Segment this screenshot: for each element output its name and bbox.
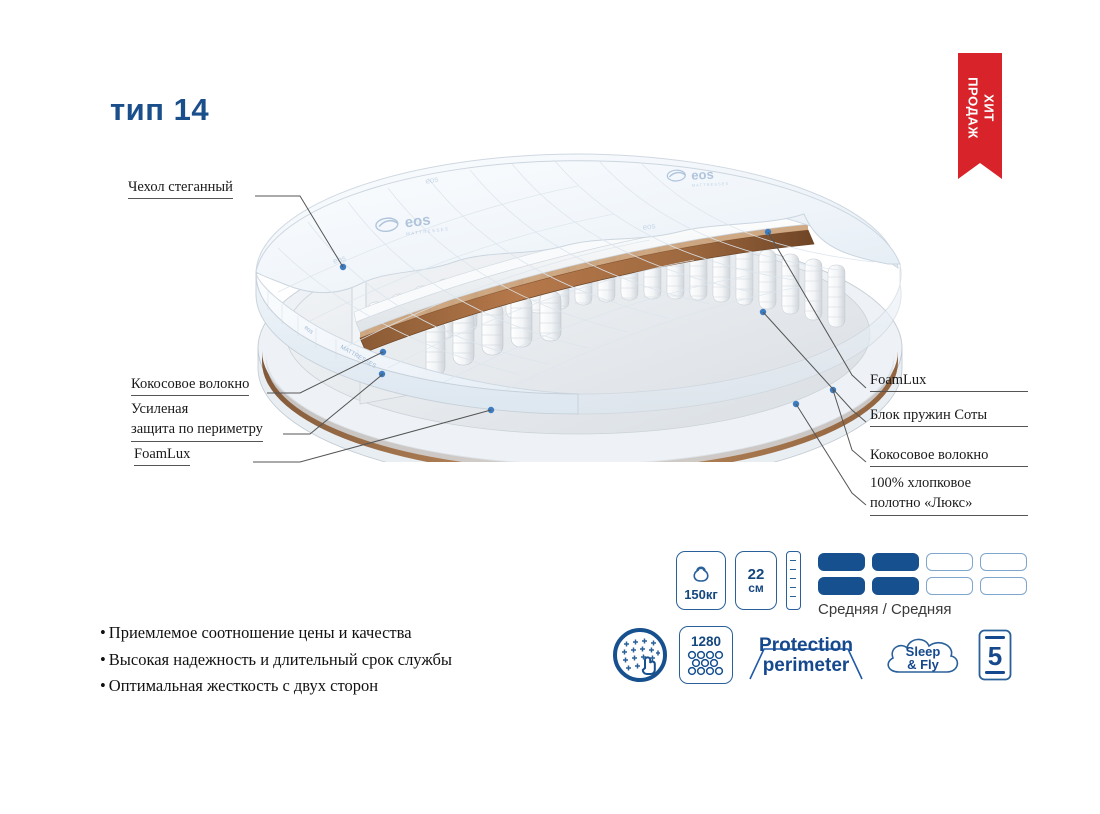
list-item: •Приемлемое соотношение цены и качества — [100, 620, 452, 647]
height-unit: см — [748, 582, 765, 594]
spec-icons-row-top: 150кг 22 см — [676, 551, 801, 610]
callout-coconut-left: Кокосовое волокно — [131, 375, 249, 396]
bullet-marker: • — [100, 620, 106, 647]
callout-foamlux-left: FoamLux — [134, 445, 190, 466]
callout-spring-block: Блок пружин Соты — [870, 406, 1028, 427]
callout-foamlux-right: FoamLux — [870, 371, 1028, 392]
callout-coconut-right-label: Кокосовое волокно — [870, 446, 1028, 467]
firmness-cell — [818, 553, 865, 571]
warranty-years-value: 5 — [988, 641, 1002, 671]
callout-foamlux-left-label: FoamLux — [134, 445, 190, 466]
firmness-row-side-b — [818, 577, 1027, 595]
bullet-text: Приемлемое соотношение цены и качества — [109, 623, 412, 642]
firmness-cell — [872, 553, 919, 571]
callout-perimeter-line1: Усиленая — [131, 400, 263, 420]
hit-sales-badge-text: ХИТ ПРОДАЖ — [964, 77, 997, 139]
firmness-cell — [926, 553, 973, 571]
firmness-indicator: Средняя / Средняя — [818, 553, 1027, 618]
callout-cover-label: Чехол стеганный — [128, 178, 233, 199]
list-item: •Высокая надежность и длительный срок сл… — [100, 647, 452, 674]
poster-canvas: тип 14 ХИТ ПРОДАЖ — [0, 0, 1100, 814]
callout-spring-block-label: Блок пружин Соты — [870, 406, 1028, 427]
max-weight-icon: 150кг — [676, 551, 726, 610]
callout-cotton-line1: 100% хлопковое — [870, 474, 1028, 494]
callout-foamlux-right-label: FoamLux — [870, 371, 1028, 392]
warranty-years-icon: 5 — [978, 629, 1012, 681]
protection-perimeter-logo: Protection perimeter — [744, 629, 868, 681]
protection-line-2: perimeter — [763, 655, 850, 676]
bullet-marker: • — [100, 647, 106, 674]
callout-cotton: 100% хлопковое полотно «Люкс» — [870, 474, 1028, 516]
sleepfly-line-2: & Fly — [907, 657, 940, 672]
bullet-text: Высокая надежность и длительный срок слу… — [109, 650, 452, 669]
spring-dots-icon — [686, 650, 726, 676]
bullet-text: Оптимальная жесткость с двух сторон — [109, 676, 378, 695]
callout-coconut-left-label: Кокосовое волокно — [131, 375, 249, 396]
svg-text:eos: eos — [691, 167, 714, 183]
callout-perimeter: Усиленая защита по периметру — [131, 400, 263, 442]
max-weight-value: 150кг — [684, 587, 718, 602]
spring-count-icon: 1280 — [679, 626, 733, 684]
hit-sales-badge: ХИТ ПРОДАЖ — [958, 53, 1002, 163]
callout-coconut-right: Кокосовое волокно — [870, 446, 1028, 467]
feature-bullet-list: •Приемлемое соотношение цены и качества … — [100, 620, 452, 700]
spring-count-value: 1280 — [691, 634, 721, 649]
sleep-and-fly-logo: Sleep & Fly — [879, 628, 967, 682]
firmness-label: Средняя / Средняя — [818, 601, 1027, 618]
protection-line-1: Protection — [759, 635, 853, 656]
firmness-cell — [980, 553, 1027, 571]
page-title: тип 14 — [110, 92, 209, 128]
badge-line-1: ХИТ — [980, 77, 996, 139]
callout-cotton-line2: полотно «Люкс» — [870, 494, 1028, 515]
mattress-height-icon: 22 см — [735, 551, 777, 610]
firmness-cell — [872, 577, 919, 595]
firmness-cell — [818, 577, 865, 595]
svg-text:eos: eos — [642, 221, 656, 232]
firmness-row-side-a — [818, 553, 1027, 571]
callout-perimeter-line2: защита по периметру — [131, 420, 263, 441]
firmness-cell — [926, 577, 973, 595]
badge-line-2: ПРОДАЖ — [964, 77, 980, 139]
callout-cover: Чехол стеганный — [128, 178, 233, 199]
kettlebell-icon — [688, 560, 714, 586]
list-item: •Оптимальная жесткость с двух сторон — [100, 673, 452, 700]
independent-springs-icon — [612, 627, 668, 683]
firmness-cell — [980, 577, 1027, 595]
bullet-marker: • — [100, 673, 106, 700]
spec-icons-row-bottom: 1280 Protection perimeter Sleep & Fly — [612, 626, 1012, 684]
mattress-cutaway-illustration: eos MATTRESSES eos MATTRESSES eos eos eo… — [248, 152, 908, 462]
ruler-icon — [786, 551, 801, 610]
